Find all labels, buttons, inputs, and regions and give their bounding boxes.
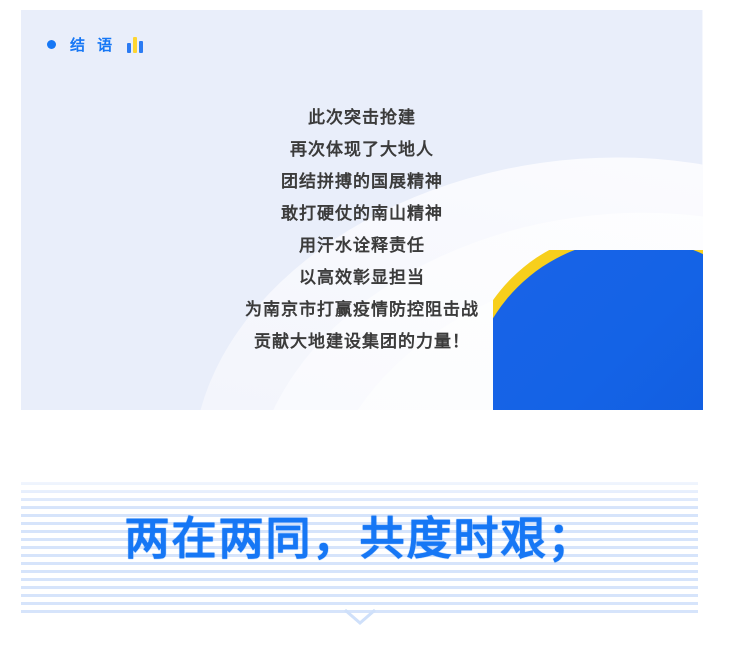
bar-chart-icon	[127, 37, 143, 53]
bullet-dot-icon	[47, 40, 56, 49]
conclusion-line: 以高效彰显担当	[21, 262, 703, 294]
conclusion-line: 敢打硬仗的南山精神	[21, 198, 703, 230]
slogan-title: 两在两同，共度时艰；	[21, 502, 698, 567]
conclusion-card: 结 语 此次突击抢建 再次体现了大地人 团结拼搏的国展精神 敢打硬仗的南山精神 …	[21, 10, 703, 410]
conclusion-line: 再次体现了大地人	[21, 134, 703, 166]
section-heading-label: 结 语	[70, 34, 116, 55]
conclusion-line: 贡献大地建设集团的力量！	[21, 326, 703, 358]
slogan-banner: 两在两同，共度时艰；	[21, 482, 698, 617]
conclusion-line: 此次突击抢建	[21, 102, 703, 134]
chevron-down-icon	[343, 608, 377, 626]
conclusion-line: 为南京市打赢疫情防控阻击战	[21, 294, 703, 326]
conclusion-text-block: 此次突击抢建 再次体现了大地人 团结拼搏的国展精神 敢打硬仗的南山精神 用汗水诠…	[21, 102, 703, 358]
conclusion-line: 团结拼搏的国展精神	[21, 166, 703, 198]
conclusion-line: 用汗水诠释责任	[21, 230, 703, 262]
section-heading: 结 语	[47, 34, 143, 55]
